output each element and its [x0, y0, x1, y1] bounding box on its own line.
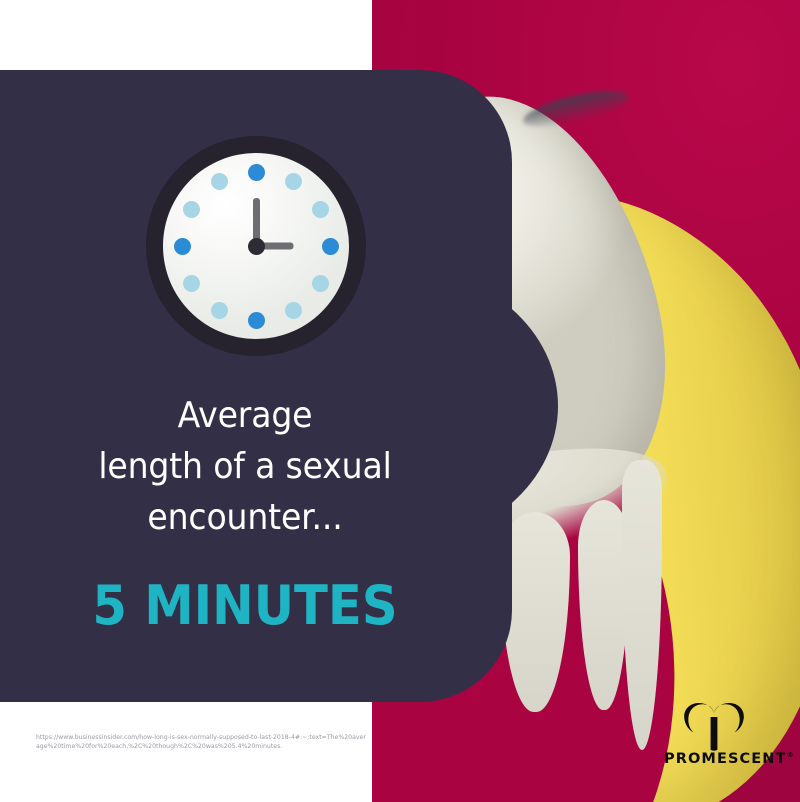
- clock-hour-dot-5: [285, 302, 302, 319]
- headline-line-3: encounter...: [47, 492, 443, 543]
- clock-hour-dot-4: [312, 275, 329, 292]
- brand-wordmark-text: PROMESCENT: [664, 751, 786, 767]
- source-url: https://www.businessinsider.com/how-long…: [36, 733, 366, 751]
- clock-hour-dot-1: [285, 173, 302, 190]
- clock-hour-dot-3: [322, 238, 339, 255]
- headline-line-1: Average: [47, 390, 443, 441]
- clock-center-pivot: [248, 238, 265, 255]
- headline-text: Average length of a sexual encounter...: [47, 390, 443, 543]
- stat-value: 5 MINUTES: [47, 575, 443, 637]
- promescent-aries-mark: [676, 703, 752, 751]
- clock-hour-dot-9: [174, 238, 191, 255]
- clock-hour-dot-7: [211, 302, 228, 319]
- infographic-canvas: Average length of a sexual encounter... …: [0, 0, 800, 802]
- banana-tip-shadow: [520, 84, 631, 134]
- clock-hour-dot-2: [312, 201, 329, 218]
- headline-line-2: length of a sexual: [47, 441, 443, 492]
- clock-hour-dot-10: [183, 201, 200, 218]
- clock-hour-dot-11: [211, 173, 228, 190]
- brand-logo: PROMESCENT®: [664, 703, 792, 775]
- clock-face: [163, 153, 349, 339]
- analog-clock-icon: [146, 136, 366, 356]
- registered-trademark-symbol: ®: [786, 751, 794, 759]
- clock-hour-dot-12: [248, 164, 265, 181]
- clock-hour-dot-6: [248, 312, 265, 329]
- brand-wordmark: PROMESCENT®: [664, 751, 792, 767]
- clock-hour-dot-8: [183, 275, 200, 292]
